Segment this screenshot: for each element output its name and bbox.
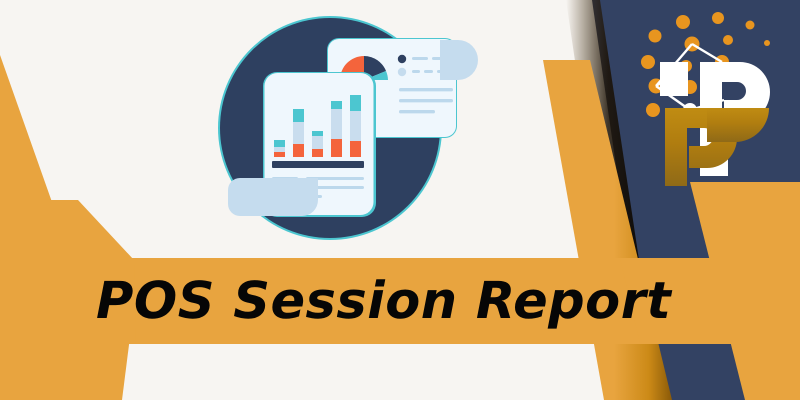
pos-session-report-banner: POS Session Report bbox=[0, 0, 800, 400]
logo-block-upper-white bbox=[660, 62, 688, 96]
company-p-logo[interactable] bbox=[0, 0, 800, 400]
logo-gold-flare bbox=[707, 108, 769, 142]
